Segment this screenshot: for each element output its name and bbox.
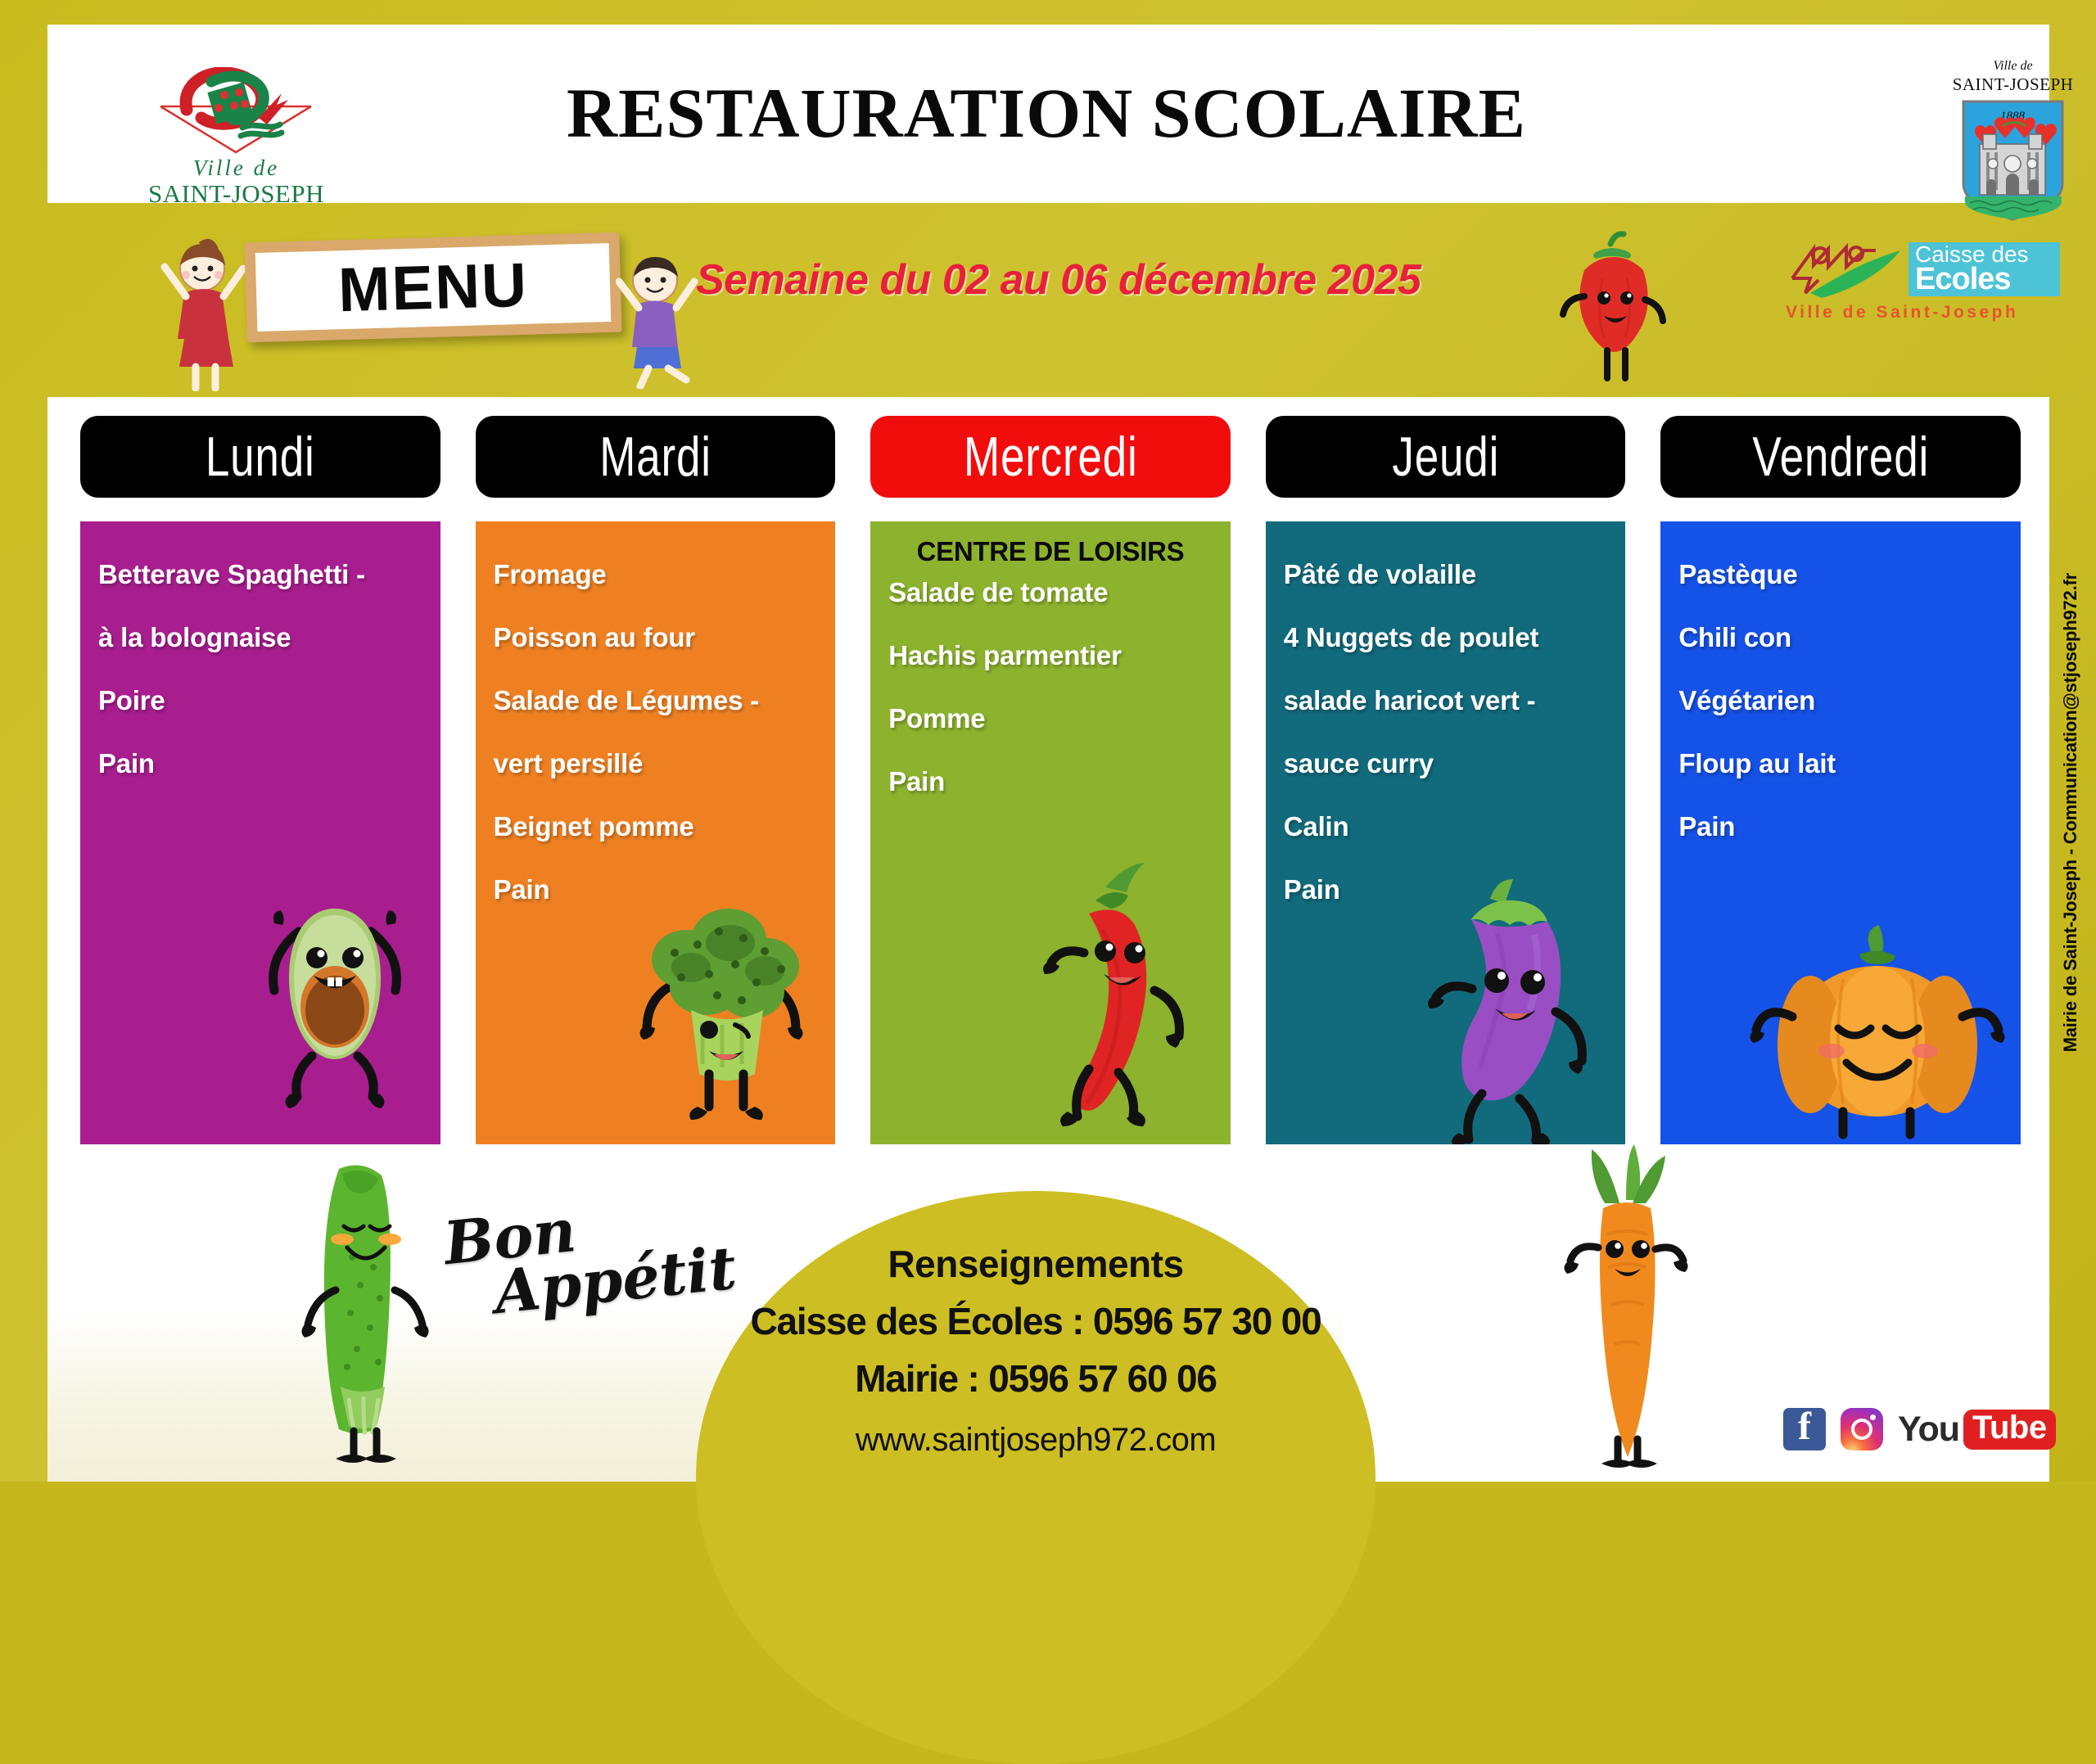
info-mairie-phone: Mairie : 0596 57 60 06	[696, 1356, 1375, 1401]
blason-line2: SAINT-JOSEPH	[1945, 74, 2080, 95]
ville-logo-line2: SAINT-JOSEPH	[136, 179, 337, 209]
page-title: RESTAURATION SCOLAIRE	[506, 72, 1587, 154]
bell-pepper-mascot	[1560, 231, 1666, 395]
youtube-icon[interactable]: You Tube	[1898, 1410, 2056, 1450]
youtube-you-label: You	[1898, 1410, 1959, 1450]
ville-de-saint-joseph-logo: Ville de SAINT-JOSEPH	[136, 67, 337, 210]
eggplant-mascot	[1412, 876, 1604, 1144]
day-body-vendredi: Pastèque Chili con Végétarien Floup au l…	[1660, 521, 2021, 1144]
ville-logo-mark	[136, 67, 337, 157]
menu-item: Fromage	[494, 561, 818, 588]
day-tab-label: Jeudi	[1392, 425, 1499, 489]
menu-item: Beignet pomme	[494, 813, 818, 840]
day-tab-label: Mardi	[599, 425, 711, 489]
facebook-icon[interactable]	[1783, 1408, 1826, 1450]
day-column-lundi: Lundi Betterave Spaghetti - à la bologna…	[80, 416, 440, 1144]
day-column-vendredi: Vendredi Pastèque Chili con Végétarien F…	[1660, 416, 2021, 1144]
day-tab-label: Mercredi	[964, 425, 1138, 489]
boy-kid-character	[616, 246, 702, 389]
menu-item: Pain	[1284, 876, 1608, 903]
footer-white-block	[1343, 1306, 2049, 1482]
menu-board: MENU	[244, 232, 621, 343]
caisse-logo-mark	[1786, 239, 1909, 303]
pumpkin-mascot	[1746, 922, 2008, 1143]
menu-item: 4 Nuggets de poulet	[1284, 624, 1608, 651]
day-body-lundi: Betterave Spaghetti - à la bolognaise Po…	[80, 521, 440, 1144]
menu-item: Poisson au four	[494, 624, 818, 651]
day-column-jeudi: Jeudi Pâté de volaille 4 Nuggets de poul…	[1266, 416, 1626, 1144]
bon-appetit-text: Bon Appétit	[441, 1187, 739, 1324]
shield-icon: 1888	[1945, 98, 2080, 223]
instagram-icon[interactable]	[1841, 1408, 1883, 1450]
week-grid: Lundi Betterave Spaghetti - à la bologna…	[80, 416, 2021, 1144]
week-label: Semaine du 02 au 06 décembre 2025	[696, 255, 1421, 305]
day-tab-label: Vendredi	[1752, 425, 1929, 489]
menu-item: Pain	[494, 876, 818, 903]
menu-item: salade haricot vert -	[1284, 687, 1608, 714]
instagram-dot	[1870, 1414, 1876, 1420]
day-tab-jeudi[interactable]: Jeudi	[1266, 416, 1626, 498]
menu-item: Calin	[1284, 813, 1608, 840]
day-tab-mardi[interactable]: Mardi	[476, 416, 836, 498]
menu-item: Pain	[98, 750, 422, 777]
menu-item: Pastèque	[1678, 561, 2003, 588]
caisse-des-ecoles-logo: Caisse des Ecoles Ville de Saint-Joseph	[1786, 239, 2064, 331]
menu-label: MENU	[244, 232, 621, 343]
caisse-line2: Ecoles	[1915, 262, 2011, 297]
menu-item: Floup au lait	[1678, 750, 2003, 777]
side-credit-text: Mairie de Saint-Joseph - Communication@s…	[2060, 573, 2081, 1052]
menu-item: Végétarien	[1678, 687, 2003, 714]
chili-pepper-mascot	[1014, 851, 1202, 1144]
menu-item: Pain	[1678, 813, 2003, 840]
ville-logo-line1: Ville de	[136, 156, 337, 181]
blason-line1: Ville de	[1945, 59, 2080, 74]
menu-item: Salade de Légumes -	[494, 687, 818, 714]
avocado-mascot	[248, 879, 424, 1144]
social-links: You Tube	[1783, 1408, 2056, 1450]
day-body-mardi: Fromage Poisson au four Salade de Légume…	[476, 521, 836, 1144]
menu-item: Pâté de volaille	[1284, 561, 1608, 588]
menu-item: à la bolognaise	[98, 624, 422, 651]
day-body-mercredi: CENTRE DE LOISIRS Salade de tomate Hachi…	[870, 521, 1231, 1144]
menu-item: sauce curry	[1284, 750, 1608, 777]
day-column-mercredi: Mercredi CENTRE DE LOISIRS Salade de tom…	[870, 416, 1231, 1144]
menu-item: vert persillé	[494, 750, 818, 777]
day-tab-mercredi[interactable]: Mercredi	[870, 416, 1231, 498]
instagram-ring	[1851, 1419, 1872, 1440]
info-circle: Renseignements Caisse des Écoles : 0596 …	[696, 1191, 1375, 1764]
caisse-line3: Ville de Saint-Joseph	[1786, 303, 2018, 323]
centre-de-loisirs-heading: CENTRE DE LOISIRS	[888, 536, 1213, 567]
menu-poster: Ville de SAINT-JOSEPH RESTAURATION SCOLA…	[0, 0, 2096, 1482]
menu-item: Hachis parmentier	[888, 642, 1213, 669]
day-tab-lundi[interactable]: Lundi	[80, 416, 440, 498]
pickle-mascot	[288, 1153, 436, 1480]
day-tab-vendredi[interactable]: Vendredi	[1660, 416, 2021, 498]
menu-item: Pomme	[888, 705, 1213, 732]
girl-kid-character	[160, 236, 250, 391]
coat-of-arms-logo: Ville de SAINT-JOSEPH 1888	[1945, 59, 2080, 223]
menu-item: Betterave Spaghetti -	[98, 561, 422, 588]
info-website-url[interactable]: www.saintjoseph972.com	[696, 1422, 1375, 1459]
menu-item: Pain	[888, 768, 1213, 795]
day-body-jeudi: Pâté de volaille 4 Nuggets de poulet sal…	[1266, 521, 1626, 1144]
day-tab-label: Lundi	[206, 425, 315, 489]
info-caisse-phone: Caisse des Écoles : 0596 57 30 00	[696, 1299, 1375, 1343]
broccoli-mascot	[627, 902, 815, 1144]
menu-item: Salade de tomate	[888, 579, 1213, 606]
info-title: Renseignements	[696, 1242, 1375, 1286]
day-column-mardi: Mardi Fromage Poisson au four Salade de …	[476, 416, 836, 1144]
menu-item: Chili con	[1678, 624, 2003, 651]
youtube-tube-label: Tube	[1963, 1410, 2056, 1450]
header-band: Ville de SAINT-JOSEPH RESTAURATION SCOLA…	[47, 25, 2049, 203]
menu-item: Poire	[98, 687, 422, 714]
carrot-mascot	[1556, 1144, 1695, 1480]
